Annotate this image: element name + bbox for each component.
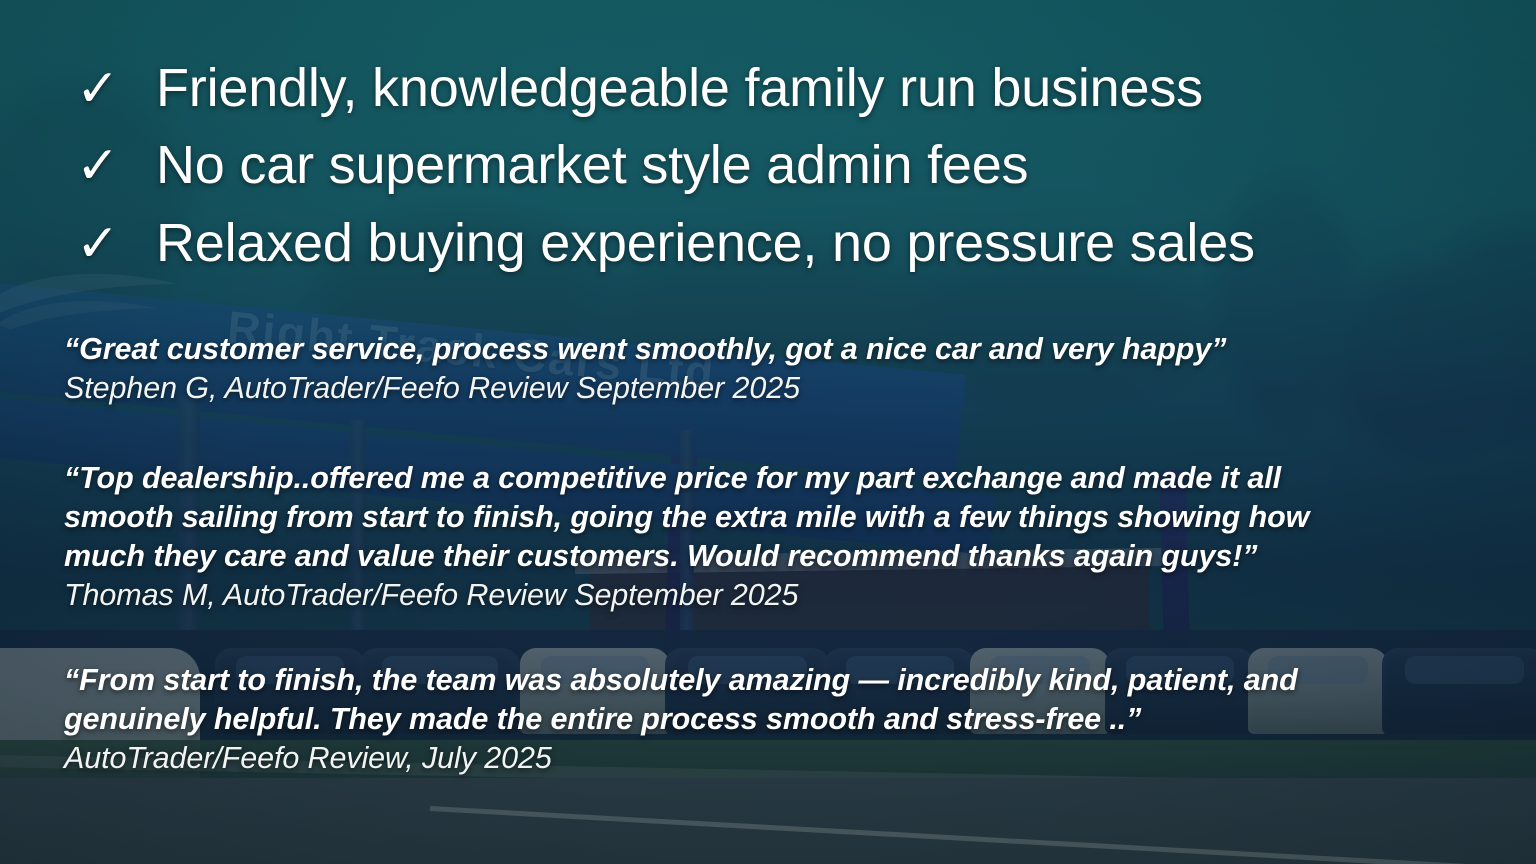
- review-quote-line: “From start to finish, the team was abso…: [64, 661, 1504, 700]
- review-quote: “Great customer service, process went sm…: [64, 330, 1504, 369]
- review-stephen-g: “Great customer service, process went sm…: [64, 330, 1504, 409]
- review-quote-line: much they care and value their customers…: [64, 537, 1504, 576]
- bullet-item-relaxed-buying: ✓ Relaxed buying experience, no pressure…: [62, 207, 1482, 280]
- customer-reviews: “Great customer service, process went sm…: [64, 330, 1504, 779]
- check-icon: ✓: [62, 54, 156, 125]
- check-icon: ✓: [62, 209, 156, 280]
- bullet-item-friendly-family-business: ✓ Friendly, knowledgeable family run bus…: [62, 52, 1482, 125]
- bullet-item-label: Relaxed buying experience, no pressure s…: [156, 207, 1255, 280]
- review-attribution: AutoTrader/Feefo Review, July 2025: [64, 739, 1504, 779]
- review-quote-line: “Top dealership..offered me a competitiv…: [64, 459, 1504, 498]
- review-attribution: Stephen G, AutoTrader/Feefo Review Septe…: [64, 369, 1504, 409]
- review-july-2025: “From start to finish, the team was abso…: [64, 661, 1504, 779]
- review-thomas-m: “Top dealership..offered me a competitiv…: [64, 459, 1504, 616]
- bullet-item-label: Friendly, knowledgeable family run busin…: [156, 52, 1203, 125]
- presentation-slide: Right Track Cars Ltd JZA ✓ Friendly, kno…: [0, 0, 1536, 864]
- bullet-item-no-admin-fees: ✓ No car supermarket style admin fees: [62, 129, 1482, 202]
- bullet-item-label: No car supermarket style admin fees: [156, 129, 1028, 202]
- benefits-bullet-list: ✓ Friendly, knowledgeable family run bus…: [62, 52, 1482, 284]
- review-quote-line: genuinely helpful. They made the entire …: [64, 700, 1504, 739]
- review-attribution: Thomas M, AutoTrader/Feefo Review Septem…: [64, 576, 1504, 616]
- review-quote-line: smooth sailing from start to finish, goi…: [64, 498, 1504, 537]
- check-icon: ✓: [62, 131, 156, 202]
- slide-content: ✓ Friendly, knowledgeable family run bus…: [0, 0, 1536, 864]
